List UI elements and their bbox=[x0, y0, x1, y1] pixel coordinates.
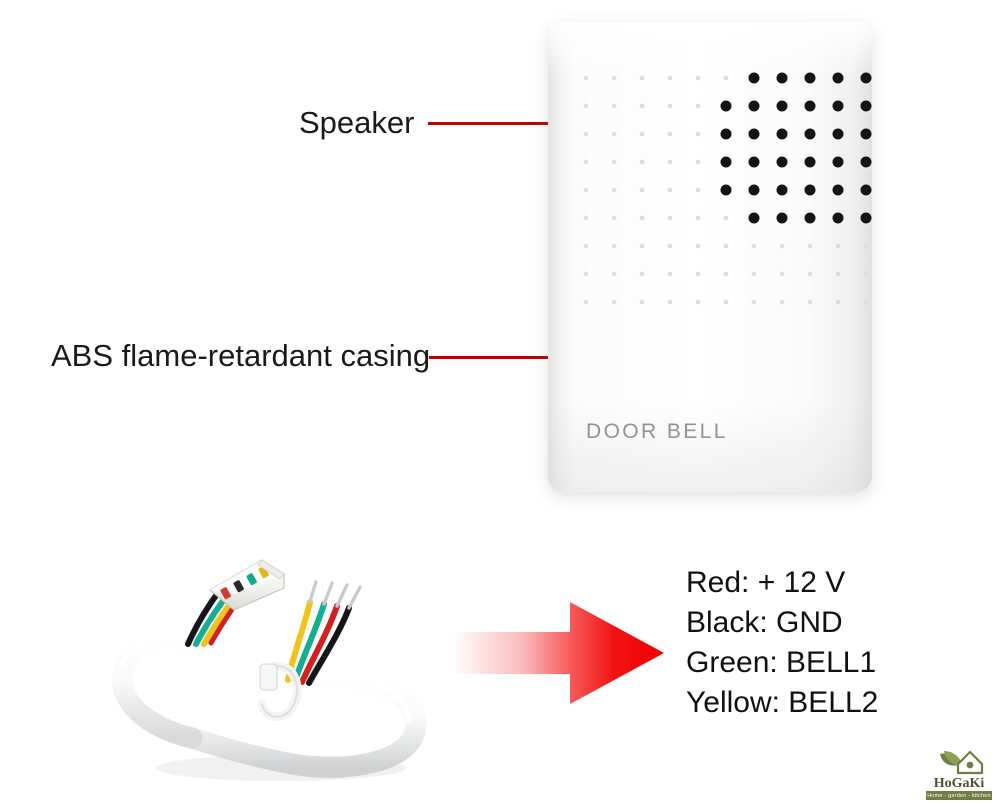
texture-dot bbox=[628, 120, 656, 148]
speaker-hole bbox=[768, 176, 796, 204]
texture-dot bbox=[572, 260, 600, 288]
texture-dot bbox=[656, 176, 684, 204]
texture-dot bbox=[572, 176, 600, 204]
speaker-hole bbox=[740, 204, 768, 232]
speaker-hole bbox=[712, 92, 740, 120]
speaker-hole bbox=[768, 92, 796, 120]
speaker-hole bbox=[740, 176, 768, 204]
speaker-hole bbox=[796, 176, 824, 204]
texture-dot bbox=[572, 64, 600, 92]
legend-line-red: Red: + 12 V bbox=[686, 563, 878, 603]
speaker-hole bbox=[768, 64, 796, 92]
device-top-highlight bbox=[548, 22, 872, 82]
texture-dot bbox=[628, 260, 656, 288]
texture-dot bbox=[796, 260, 824, 288]
texture-dot bbox=[572, 288, 600, 316]
texture-dot bbox=[740, 260, 768, 288]
texture-dot bbox=[656, 288, 684, 316]
texture-dot bbox=[684, 92, 712, 120]
texture-dot bbox=[852, 260, 880, 288]
texture-dot bbox=[600, 176, 628, 204]
texture-dot bbox=[628, 288, 656, 316]
texture-dot bbox=[628, 232, 656, 260]
legend-line-black: Black: GND bbox=[686, 603, 878, 643]
texture-dot bbox=[712, 232, 740, 260]
speaker-hole bbox=[852, 204, 880, 232]
speaker-hole bbox=[796, 120, 824, 148]
texture-dot bbox=[824, 260, 852, 288]
texture-dot bbox=[572, 204, 600, 232]
texture-dot bbox=[600, 120, 628, 148]
speaker-hole bbox=[824, 148, 852, 176]
texture-dot bbox=[740, 232, 768, 260]
annotation-label-speaker: Speaker bbox=[299, 105, 414, 141]
texture-dot bbox=[796, 232, 824, 260]
texture-dot bbox=[600, 260, 628, 288]
texture-dot bbox=[628, 176, 656, 204]
speaker-hole bbox=[712, 176, 740, 204]
texture-dot bbox=[572, 120, 600, 148]
texture-dot bbox=[572, 148, 600, 176]
texture-dot bbox=[600, 232, 628, 260]
speaker-hole bbox=[740, 64, 768, 92]
wire-color-legend: Red: + 12 V Black: GND Green: BELL1 Yell… bbox=[686, 563, 878, 723]
texture-dot bbox=[684, 148, 712, 176]
texture-dot bbox=[684, 204, 712, 232]
texture-dot bbox=[824, 232, 852, 260]
texture-dot bbox=[628, 92, 656, 120]
speaker-hole bbox=[796, 204, 824, 232]
texture-dot bbox=[600, 92, 628, 120]
texture-dot bbox=[796, 288, 824, 316]
leaf-house-icon bbox=[924, 748, 994, 778]
texture-dot bbox=[656, 204, 684, 232]
speaker-perforation-grid bbox=[572, 64, 880, 316]
speaker-hole bbox=[740, 92, 768, 120]
speaker-hole bbox=[824, 176, 852, 204]
texture-dot bbox=[712, 288, 740, 316]
texture-dot bbox=[572, 92, 600, 120]
watermark-brand-name: HoGaKi bbox=[924, 776, 994, 792]
speaker-hole bbox=[740, 148, 768, 176]
speaker-hole bbox=[740, 120, 768, 148]
texture-dot bbox=[684, 260, 712, 288]
device-bottom-shading bbox=[548, 402, 872, 492]
speaker-hole bbox=[712, 120, 740, 148]
speaker-hole bbox=[852, 120, 880, 148]
doorbell-device-body: DOOR BELL bbox=[548, 22, 872, 492]
texture-dot bbox=[656, 232, 684, 260]
texture-dot bbox=[768, 288, 796, 316]
speaker-hole bbox=[796, 148, 824, 176]
texture-dot bbox=[628, 148, 656, 176]
texture-dot bbox=[656, 120, 684, 148]
texture-dot bbox=[684, 176, 712, 204]
speaker-hole bbox=[824, 120, 852, 148]
texture-dot bbox=[656, 64, 684, 92]
texture-dot bbox=[628, 64, 656, 92]
texture-dot bbox=[712, 64, 740, 92]
texture-dot bbox=[712, 204, 740, 232]
speaker-hole bbox=[852, 176, 880, 204]
texture-dot bbox=[684, 288, 712, 316]
texture-dot bbox=[852, 288, 880, 316]
texture-dot bbox=[824, 288, 852, 316]
texture-dot bbox=[572, 232, 600, 260]
speaker-hole bbox=[852, 148, 880, 176]
texture-dot bbox=[656, 148, 684, 176]
speaker-hole bbox=[768, 204, 796, 232]
device-brandmark-label: DOOR BELL bbox=[586, 420, 728, 444]
texture-dot bbox=[600, 204, 628, 232]
speaker-hole bbox=[824, 64, 852, 92]
speaker-hole bbox=[824, 92, 852, 120]
texture-dot bbox=[628, 204, 656, 232]
texture-dot bbox=[712, 260, 740, 288]
speaker-hole bbox=[796, 92, 824, 120]
annotation-label-casing: ABS flame-retardant casing bbox=[51, 338, 430, 374]
connector-cable-assembly bbox=[96, 540, 436, 790]
texture-dot bbox=[684, 120, 712, 148]
watermark-tagline: Home - garden - kitchen bbox=[926, 791, 992, 800]
legend-line-yellow: Yellow: BELL2 bbox=[686, 683, 878, 723]
texture-dot bbox=[656, 260, 684, 288]
speaker-hole bbox=[824, 204, 852, 232]
texture-dot bbox=[600, 64, 628, 92]
texture-dot bbox=[684, 64, 712, 92]
red-gradient-block-arrow bbox=[452, 602, 664, 704]
texture-dot bbox=[768, 232, 796, 260]
texture-dot bbox=[768, 260, 796, 288]
speaker-hole bbox=[852, 92, 880, 120]
texture-dot bbox=[684, 232, 712, 260]
legend-line-green: Green: BELL1 bbox=[686, 643, 878, 683]
speaker-hole bbox=[712, 148, 740, 176]
speaker-hole bbox=[852, 64, 880, 92]
speaker-hole bbox=[768, 120, 796, 148]
watermark-logo: HoGaKi Home - garden - kitchen bbox=[924, 748, 994, 804]
speaker-hole bbox=[768, 148, 796, 176]
speaker-hole bbox=[796, 64, 824, 92]
texture-dot bbox=[740, 288, 768, 316]
texture-dot bbox=[852, 232, 880, 260]
texture-dot bbox=[600, 288, 628, 316]
texture-dot bbox=[600, 148, 628, 176]
texture-dot bbox=[656, 92, 684, 120]
product-diagram-canvas: Speaker ABS flame-retardant casing DOOR … bbox=[0, 0, 1000, 809]
